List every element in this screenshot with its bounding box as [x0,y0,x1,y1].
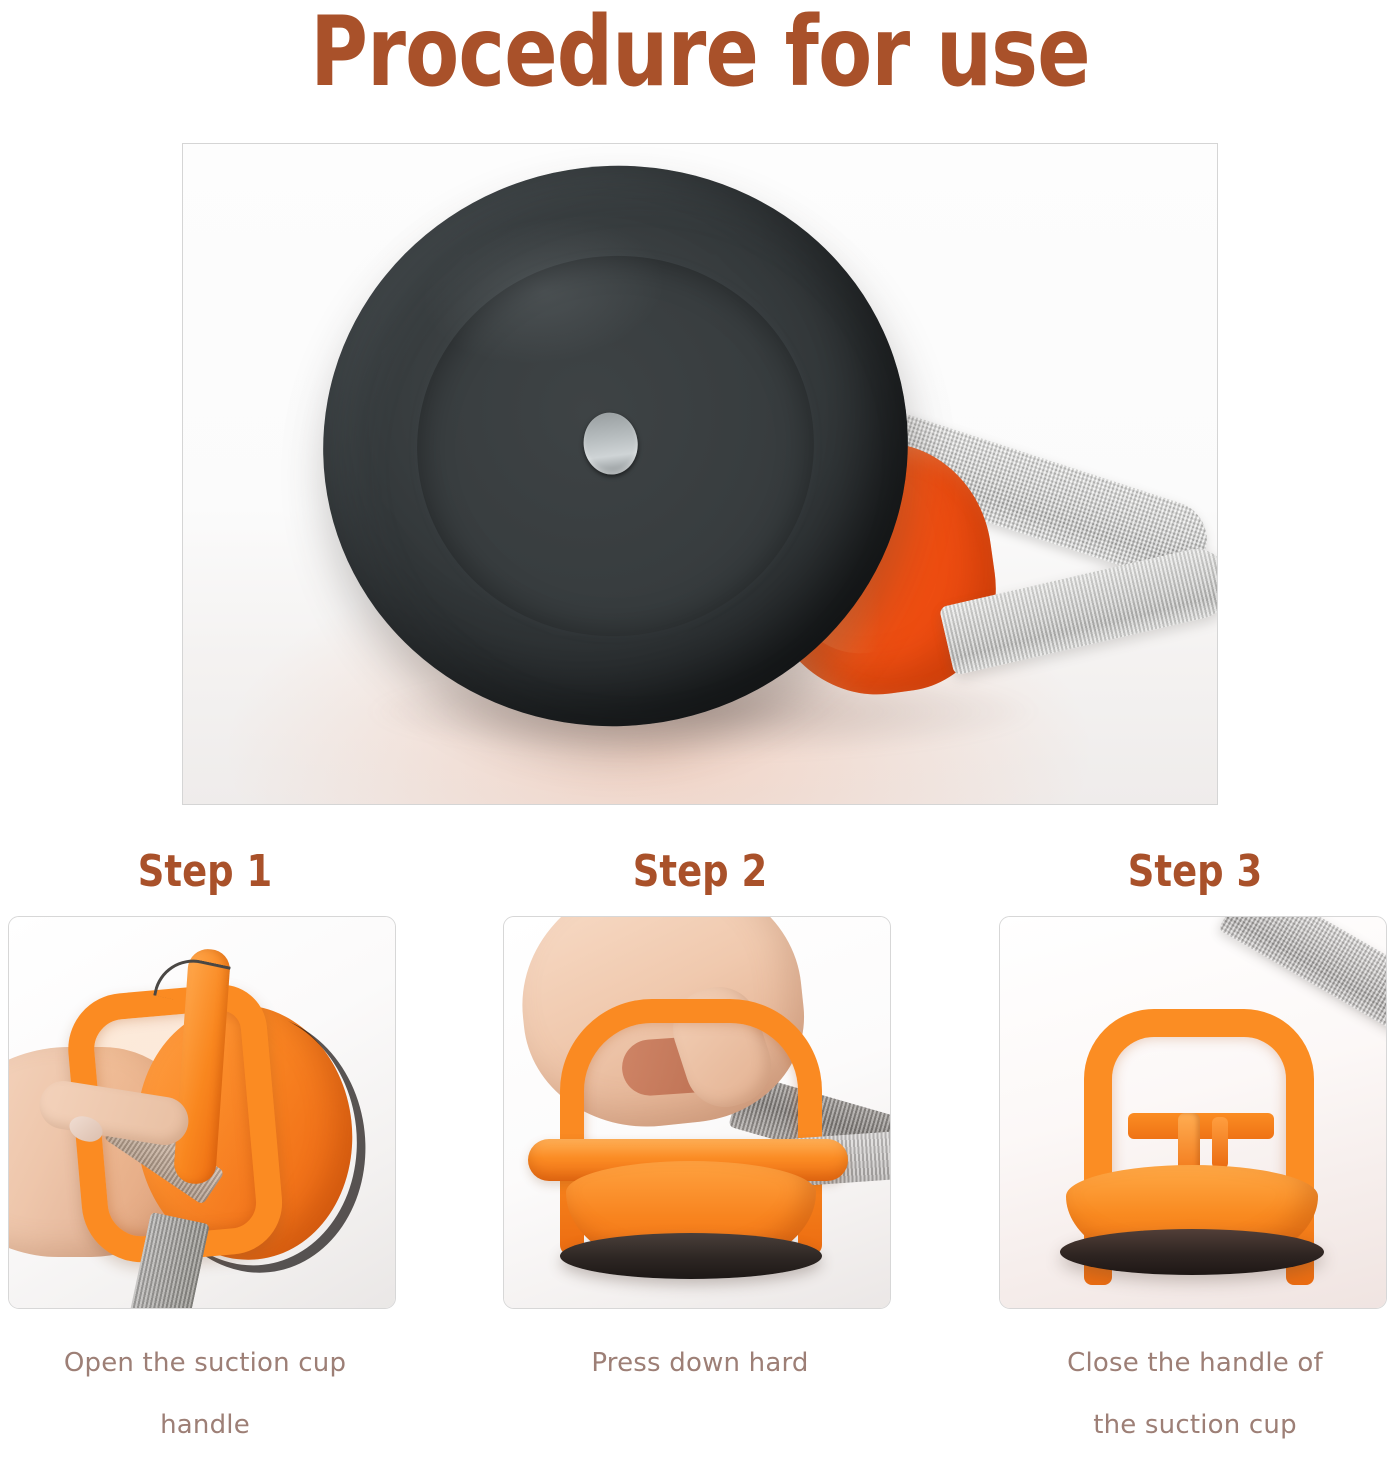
page-title: Procedure for use [126,2,1274,102]
step-3-cup-rim [1060,1229,1324,1275]
step-label-1: Step 1 [37,845,373,899]
step-thumbnails-row [0,916,1400,1311]
step-1-caption-line-1: Open the suction cup [5,1332,405,1394]
step-labels-row: Step 1 Step 2 Step 3 [0,845,1400,905]
hero-product-photo [183,144,1217,804]
step-2-handle-arch [560,999,822,1159]
step-captions-row: Open the suction cup handle Press down h… [0,1332,1400,1471]
step-1-image-frame [8,916,396,1309]
step-2-photo [504,917,890,1308]
step-2-caption: Press down hard [500,1332,900,1394]
procedure-poster: Procedure for use Step 1 Step 2 Step 3 [0,0,1400,1471]
step-3-photo [1000,917,1386,1308]
step-2-caption-line-1: Press down hard [500,1332,900,1394]
step-label-3: Step 3 [1027,845,1363,899]
hero-image-frame [182,143,1218,805]
step-2-cup-rim [560,1233,822,1279]
step-3-caption-line-2: the suction cup [995,1394,1395,1456]
step-1-caption: Open the suction cup handle [5,1332,405,1456]
step-3-caption: Close the handle of the suction cup [995,1332,1395,1456]
step-1-photo [9,917,395,1308]
step-3-image-frame [999,916,1387,1309]
step-3-inner-bar [1128,1113,1274,1139]
step-3-lock-pin-secondary [1212,1117,1228,1169]
step-1-caption-line-2: handle [5,1394,405,1456]
step-3-caption-line-1: Close the handle of [995,1332,1395,1394]
step-label-2: Step 2 [532,845,868,899]
step-2-image-frame [503,916,891,1309]
